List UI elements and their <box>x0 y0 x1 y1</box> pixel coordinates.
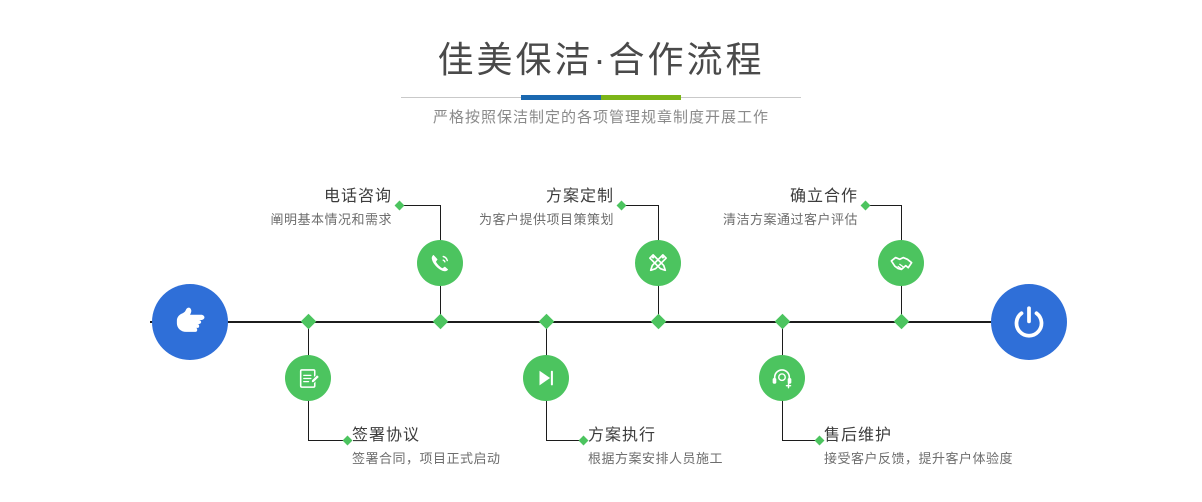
connector-horizontal-step-5 <box>866 205 902 206</box>
timeline-start-node[interactable] <box>152 284 228 360</box>
step-node-5[interactable] <box>878 240 924 286</box>
step-label-5: 确立合作 清洁方案通过客户评估 <box>590 186 858 230</box>
power-icon <box>1009 302 1049 342</box>
connector-horizontal-step-3 <box>622 205 659 206</box>
connector-horizontal-step-1 <box>400 205 441 206</box>
axis-diamond-step-5 <box>894 314 910 330</box>
divider-segment-green <box>601 95 681 100</box>
axis-diamond-step-6 <box>775 314 791 330</box>
lead-diamond-step-5 <box>861 201 871 211</box>
divider-segment-blue <box>521 95 601 100</box>
document-sign-icon <box>296 366 321 391</box>
pointing-hand-icon <box>169 301 211 343</box>
phone-call-icon <box>427 250 453 276</box>
step-node-3[interactable] <box>635 240 681 286</box>
axis-diamond-step-3 <box>651 314 667 330</box>
step-desc-5: 清洁方案通过客户评估 <box>590 210 858 230</box>
step-node-2[interactable] <box>285 355 331 401</box>
step-desc-6: 接受客户反馈，提升客户体验度 <box>824 449 1144 469</box>
pencil-ruler-icon <box>645 250 671 276</box>
timeline-end-node[interactable] <box>991 284 1067 360</box>
step-node-6[interactable] <box>759 355 805 401</box>
step-node-1[interactable] <box>417 240 463 286</box>
play-execute-icon <box>533 365 559 391</box>
flow-diagram-page: 佳美保洁·合作流程 严格按照保洁制定的各项管理规章制度开展工作 <box>0 0 1202 502</box>
axis-diamond-step-4 <box>539 314 555 330</box>
headset-support-icon <box>769 365 795 391</box>
step-node-4[interactable] <box>523 355 569 401</box>
handshake-icon <box>888 250 915 277</box>
step-label-3: 方案定制 为客户提供项目策策划 <box>340 186 614 230</box>
step-title-6: 售后维护 <box>824 425 1144 447</box>
axis-diamond-step-1 <box>433 314 449 330</box>
title-divider <box>401 95 801 100</box>
timeline-axis <box>150 321 1055 323</box>
lead-diamond-step-2 <box>343 436 353 446</box>
page-title: 佳美保洁·合作流程 <box>0 38 1202 82</box>
step-title-3: 方案定制 <box>340 186 614 208</box>
page-subtitle: 严格按照保洁制定的各项管理规章制度开展工作 <box>0 107 1202 129</box>
axis-diamond-step-2 <box>301 314 317 330</box>
step-desc-3: 为客户提供项目策策划 <box>340 210 614 230</box>
step-label-6: 售后维护 接受客户反馈，提升客户体验度 <box>824 425 1144 469</box>
